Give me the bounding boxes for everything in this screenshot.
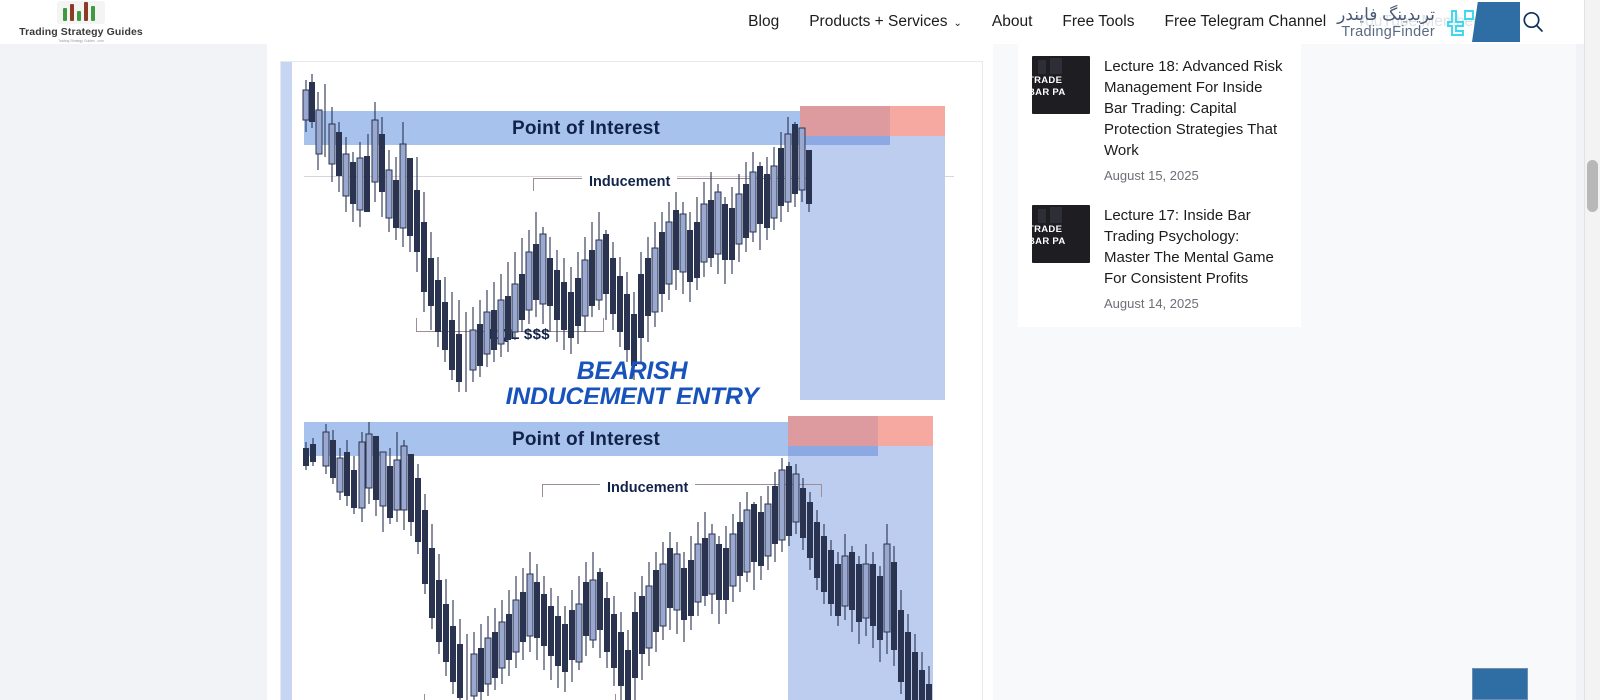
main-navigation: Blog Products + Services ⌄ About Free To…	[748, 0, 1486, 44]
nav-label: About	[992, 13, 1033, 31]
article-title[interactable]: Lecture 17: Inside Bar Trading Psycholog…	[1104, 205, 1287, 289]
right-column: TRADE BAR PA Lecture 18: Advanced Risk M…	[993, 44, 1576, 700]
scroll-to-top-button[interactable]	[1472, 668, 1528, 700]
thumbnail-text-line1: TRADE	[1032, 224, 1062, 235]
chart-figure: Point of Interest Inducement EQL $$$	[280, 61, 983, 700]
candlestick-series	[292, 404, 983, 700]
candlestick-logo-icon	[57, 1, 105, 24]
main-content-column: Point of Interest Inducement EQL $$$	[267, 44, 993, 700]
thumbnail-text-line2: BAR PA	[1032, 236, 1066, 247]
page-root: TRADE BAR PA Lecture 18: Advanced Risk M…	[0, 0, 1600, 700]
thumbnail-text-line1: TRADE	[1032, 75, 1062, 86]
site-logo[interactable]: Trading Strategy Guides Trading Strategy…	[22, 1, 140, 43]
chevron-down-icon: ⌄	[953, 18, 961, 29]
thumbnail-text-line2: BAR PA	[1032, 87, 1066, 98]
nav-item-products-services[interactable]: Products + Services ⌄	[809, 13, 962, 31]
nav-item-about[interactable]: About	[992, 13, 1033, 31]
nav-label: Free Telegram Channel	[1164, 13, 1326, 31]
candlestick-series	[292, 62, 983, 404]
page-scrollbar-track[interactable]	[1584, 0, 1600, 700]
nav-item-free-tools[interactable]: Free Tools	[1062, 13, 1134, 31]
nav-item-youtube-members[interactable]: YouTube Members	[1356, 13, 1486, 31]
result-panel: Point of Interest Inducement EQL $$$	[292, 404, 983, 700]
article-date: August 15, 2025	[1104, 168, 1287, 183]
list-item[interactable]: TRADE BAR PA Lecture 17: Inside Bar Trad…	[1032, 205, 1287, 311]
headline-line1: BEARISH	[492, 358, 772, 384]
recent-articles-card: TRADE BAR PA Lecture 18: Advanced Risk M…	[1018, 44, 1301, 327]
left-gutter	[0, 44, 267, 700]
search-icon[interactable]	[1520, 9, 1546, 35]
figure-left-band	[281, 62, 292, 700]
headline-line2: INDUCEMENT ENTRY	[432, 384, 832, 404]
logo-text: Trading Strategy Guides	[19, 26, 143, 38]
list-item[interactable]: TRADE BAR PA Lecture 18: Advanced Risk M…	[1032, 56, 1287, 183]
nav-item-blog[interactable]: Blog	[748, 13, 779, 31]
nav-label: Products + Services	[809, 13, 947, 31]
logo-subtext: Trading Strategy Guides . com	[58, 39, 104, 43]
nav-label: Free Tools	[1062, 13, 1134, 31]
article-thumbnail: TRADE BAR PA	[1032, 56, 1090, 114]
article-thumbnail: TRADE BAR PA	[1032, 205, 1090, 263]
article-title[interactable]: Lecture 18: Advanced Risk Management For…	[1104, 56, 1287, 161]
article-date: August 14, 2025	[1104, 296, 1287, 311]
nav-highlight-slab	[1472, 2, 1520, 42]
nav-label: YouTube Members	[1356, 13, 1486, 31]
page-scrollbar-thumb[interactable]	[1587, 160, 1598, 212]
site-header: Trading Strategy Guides Trading Strategy…	[0, 0, 1576, 44]
setup-panel: Point of Interest Inducement EQL $$$	[292, 62, 983, 404]
nav-label: Blog	[748, 13, 779, 31]
nav-item-free-telegram-channel[interactable]: Free Telegram Channel	[1164, 13, 1326, 31]
